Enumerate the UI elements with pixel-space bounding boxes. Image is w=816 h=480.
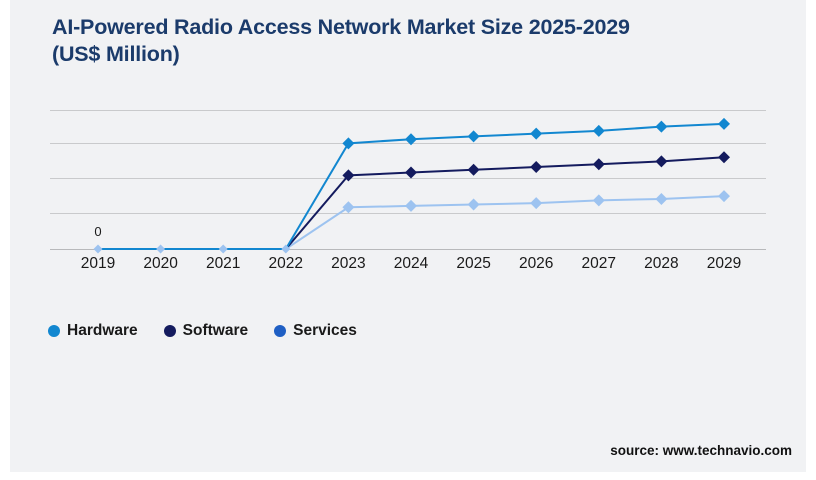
legend-item-services[interactable]: Services: [274, 322, 357, 340]
x-tick-label-2026: 2026: [519, 255, 553, 273]
source-attribution: source: www.technavio.com: [610, 443, 792, 458]
legend-item-hardware[interactable]: Hardware: [48, 322, 138, 340]
data-point-marker: [342, 201, 354, 213]
data-point-marker: [655, 121, 667, 133]
data-point-marker: [718, 151, 730, 163]
x-tick-label-2029: 2029: [707, 255, 741, 273]
data-point-marker: [655, 155, 667, 167]
series-layer: [50, 95, 766, 260]
x-tick-label-2019: 2019: [81, 255, 115, 273]
data-point-marker: [405, 133, 417, 145]
data-point-marker: [468, 130, 480, 142]
plot-area: 0: [50, 95, 766, 260]
data-point-marker: [530, 161, 542, 173]
data-point-marker: [593, 158, 605, 170]
data-point-marker: [718, 118, 730, 130]
legend-swatch-icon: [48, 325, 60, 337]
x-tick-label-2022: 2022: [269, 255, 303, 273]
data-point-marker: [530, 197, 542, 209]
data-point-marker: [593, 125, 605, 137]
x-tick-label-2028: 2028: [644, 255, 678, 273]
chart-title-line-2: (US$ Million): [52, 42, 180, 66]
x-tick-label-2020: 2020: [143, 255, 177, 273]
x-tick-label-2021: 2021: [206, 255, 240, 273]
data-point-marker: [530, 128, 542, 140]
chart-title-line-1: AI-Powered Radio Access Network Market S…: [52, 15, 630, 39]
x-tick-label-2023: 2023: [331, 255, 365, 273]
legend-label: Software: [183, 322, 248, 340]
legend-label: Hardware: [67, 322, 138, 340]
data-point-marker: [655, 193, 667, 205]
x-axis-tick-labels: 2019202020212022202320242025202620272028…: [50, 255, 766, 277]
data-point-marker: [405, 167, 417, 179]
data-point-marker: [468, 164, 480, 176]
legend-swatch-icon: [164, 325, 176, 337]
legend-item-software[interactable]: Software: [164, 322, 248, 340]
data-point-marker: [405, 200, 417, 212]
legend-swatch-icon: [274, 325, 286, 337]
data-point-marker: [468, 199, 480, 211]
data-point-marker: [593, 194, 605, 206]
chart-figure: AI-Powered Radio Access Network Market S…: [10, 0, 806, 472]
x-tick-label-2024: 2024: [394, 255, 428, 273]
x-tick-label-2027: 2027: [582, 255, 616, 273]
data-point-marker: [156, 245, 165, 254]
data-point-marker: [94, 245, 103, 254]
data-point-marker: [219, 245, 228, 254]
data-point-marker: [718, 190, 730, 202]
x-tick-label-2025: 2025: [456, 255, 490, 273]
chart-title: AI-Powered Radio Access Network Market S…: [52, 14, 782, 68]
legend-label: Services: [293, 322, 357, 340]
data-point-marker: [342, 137, 354, 149]
chart-legend: HardwareSoftwareServices: [48, 322, 357, 340]
data-label: 0: [94, 224, 101, 239]
